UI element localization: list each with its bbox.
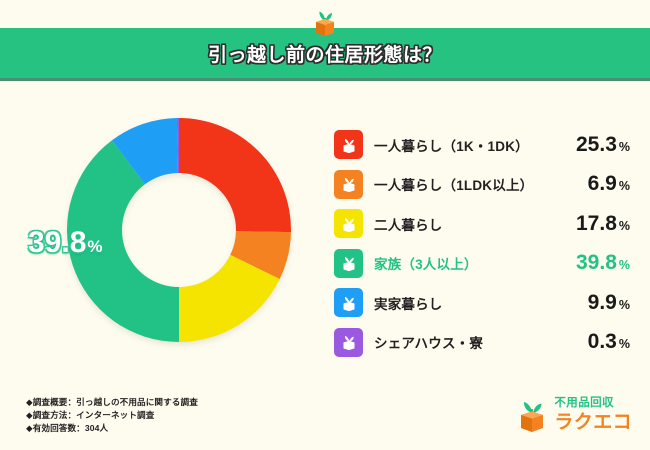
- survey-note: ◆調査方法：インターネット調査: [26, 409, 198, 422]
- survey-note: ◆有効回答数：304人: [26, 422, 198, 435]
- legend-item-value: 0.3%: [588, 330, 634, 354]
- legend-item-label: 一人暮らし（1LDK以上）: [374, 174, 533, 194]
- sprout-box-logo-icon: [515, 396, 549, 434]
- legend-item-label: 実家暮らし: [374, 293, 443, 313]
- survey-note: ◆調査概要：引っ越しの不用品に関する調査: [26, 396, 198, 409]
- legend-row[interactable]: 家族（3人以上） 39.8%: [334, 249, 634, 278]
- sprout-box-icon: [334, 249, 363, 278]
- legend-item-label: 二人暮らし: [374, 214, 443, 234]
- donut-slice[interactable]: [179, 118, 291, 232]
- legend: 一人暮らし（1K・1DK） 25.3% 一人暮らし（1LDK以上） 6.9% 二…: [334, 130, 634, 367]
- brand-text: 不用品回収 ラクエコ: [554, 398, 632, 432]
- sprout-box-icon: [334, 170, 363, 199]
- legend-row[interactable]: 二人暮らし 17.8%: [334, 209, 634, 238]
- donut-center-callout: 39.8%: [28, 226, 103, 260]
- brand-subtitle: 不用品回収: [554, 398, 632, 410]
- brand-name: ラクエコ: [554, 413, 632, 432]
- legend-row[interactable]: シェアハウス・寮 0.3%: [334, 328, 634, 357]
- legend-item-label: 一人暮らし（1K・1DK）: [374, 135, 529, 155]
- legend-item-value: 6.9%: [588, 172, 634, 196]
- donut-callout-suffix: %: [87, 237, 102, 256]
- donut-callout-value: 39.8: [28, 226, 86, 259]
- brand-logo[interactable]: 不用品回収 ラクエコ: [515, 396, 632, 434]
- legend-item-label: 家族（3人以上）: [374, 253, 478, 273]
- legend-item-label: シェアハウス・寮: [374, 332, 483, 352]
- legend-item-value: 9.9%: [588, 291, 634, 315]
- sprout-box-icon: [308, 6, 342, 40]
- donut-chart: 39.8%: [18, 106, 318, 386]
- sprout-box-icon: [334, 209, 363, 238]
- legend-row[interactable]: 実家暮らし 9.9%: [334, 288, 634, 317]
- legend-row[interactable]: 一人暮らし（1K・1DK） 25.3%: [334, 130, 634, 159]
- sprout-box-icon: [334, 328, 363, 357]
- legend-item-value: 39.8%: [576, 251, 634, 275]
- survey-notes: ◆調査概要：引っ越しの不用品に関する調査 ◆調査方法：インターネット調査 ◆有効…: [26, 396, 198, 436]
- legend-item-value: 25.3%: [576, 133, 634, 157]
- legend-row[interactable]: 一人暮らし（1LDK以上） 6.9%: [334, 170, 634, 199]
- legend-item-value: 17.8%: [576, 212, 634, 236]
- page-title: 引っ越し前の住居形態は？: [208, 40, 442, 67]
- sprout-box-icon: [334, 130, 363, 159]
- sprout-box-icon: [334, 288, 363, 317]
